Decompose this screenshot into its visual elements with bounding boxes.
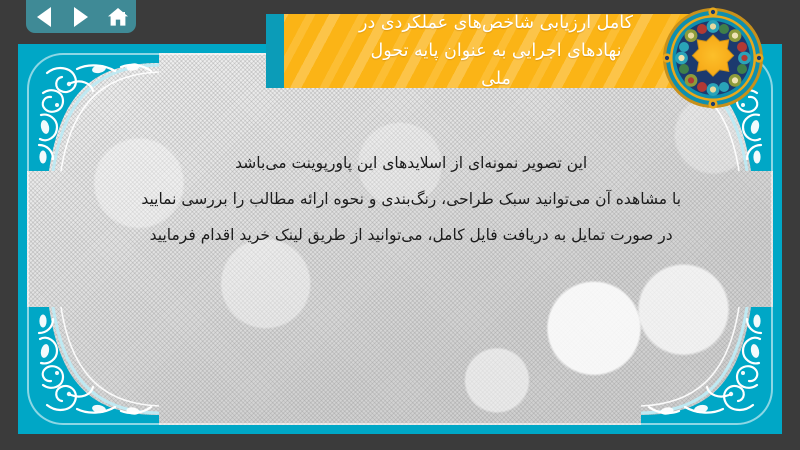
triangle-right-icon <box>74 7 88 27</box>
previous-slide-button[interactable] <box>31 5 57 29</box>
triangle-left-icon <box>37 7 51 27</box>
home-icon <box>107 7 129 27</box>
arabesque-corner-bottom-right-icon <box>641 307 773 425</box>
slide-body-text: این تصویر نمونه‌ای از اسلایدهای این پاور… <box>87 145 736 253</box>
next-slide-button[interactable] <box>68 5 94 29</box>
navigation-toolbar <box>26 0 136 33</box>
home-button[interactable] <box>105 5 131 29</box>
slide-title: کامل ارزیابی شاخص‌های عملکردی در نهادهای… <box>266 9 718 93</box>
slide-canvas: این تصویر نمونه‌ای از اسلایدهای این پاور… <box>27 53 773 425</box>
slide-frame: این تصویر نمونه‌ای از اسلایدهای این پاور… <box>18 44 782 434</box>
slide-title-banner: کامل ارزیابی شاخص‌های عملکردی در نهادهای… <box>266 14 718 88</box>
slide-viewer: این تصویر نمونه‌ای از اسلایدهای این پاور… <box>0 0 800 450</box>
title-banner-tab <box>266 14 284 88</box>
arabesque-corner-bottom-left-icon <box>27 307 159 425</box>
